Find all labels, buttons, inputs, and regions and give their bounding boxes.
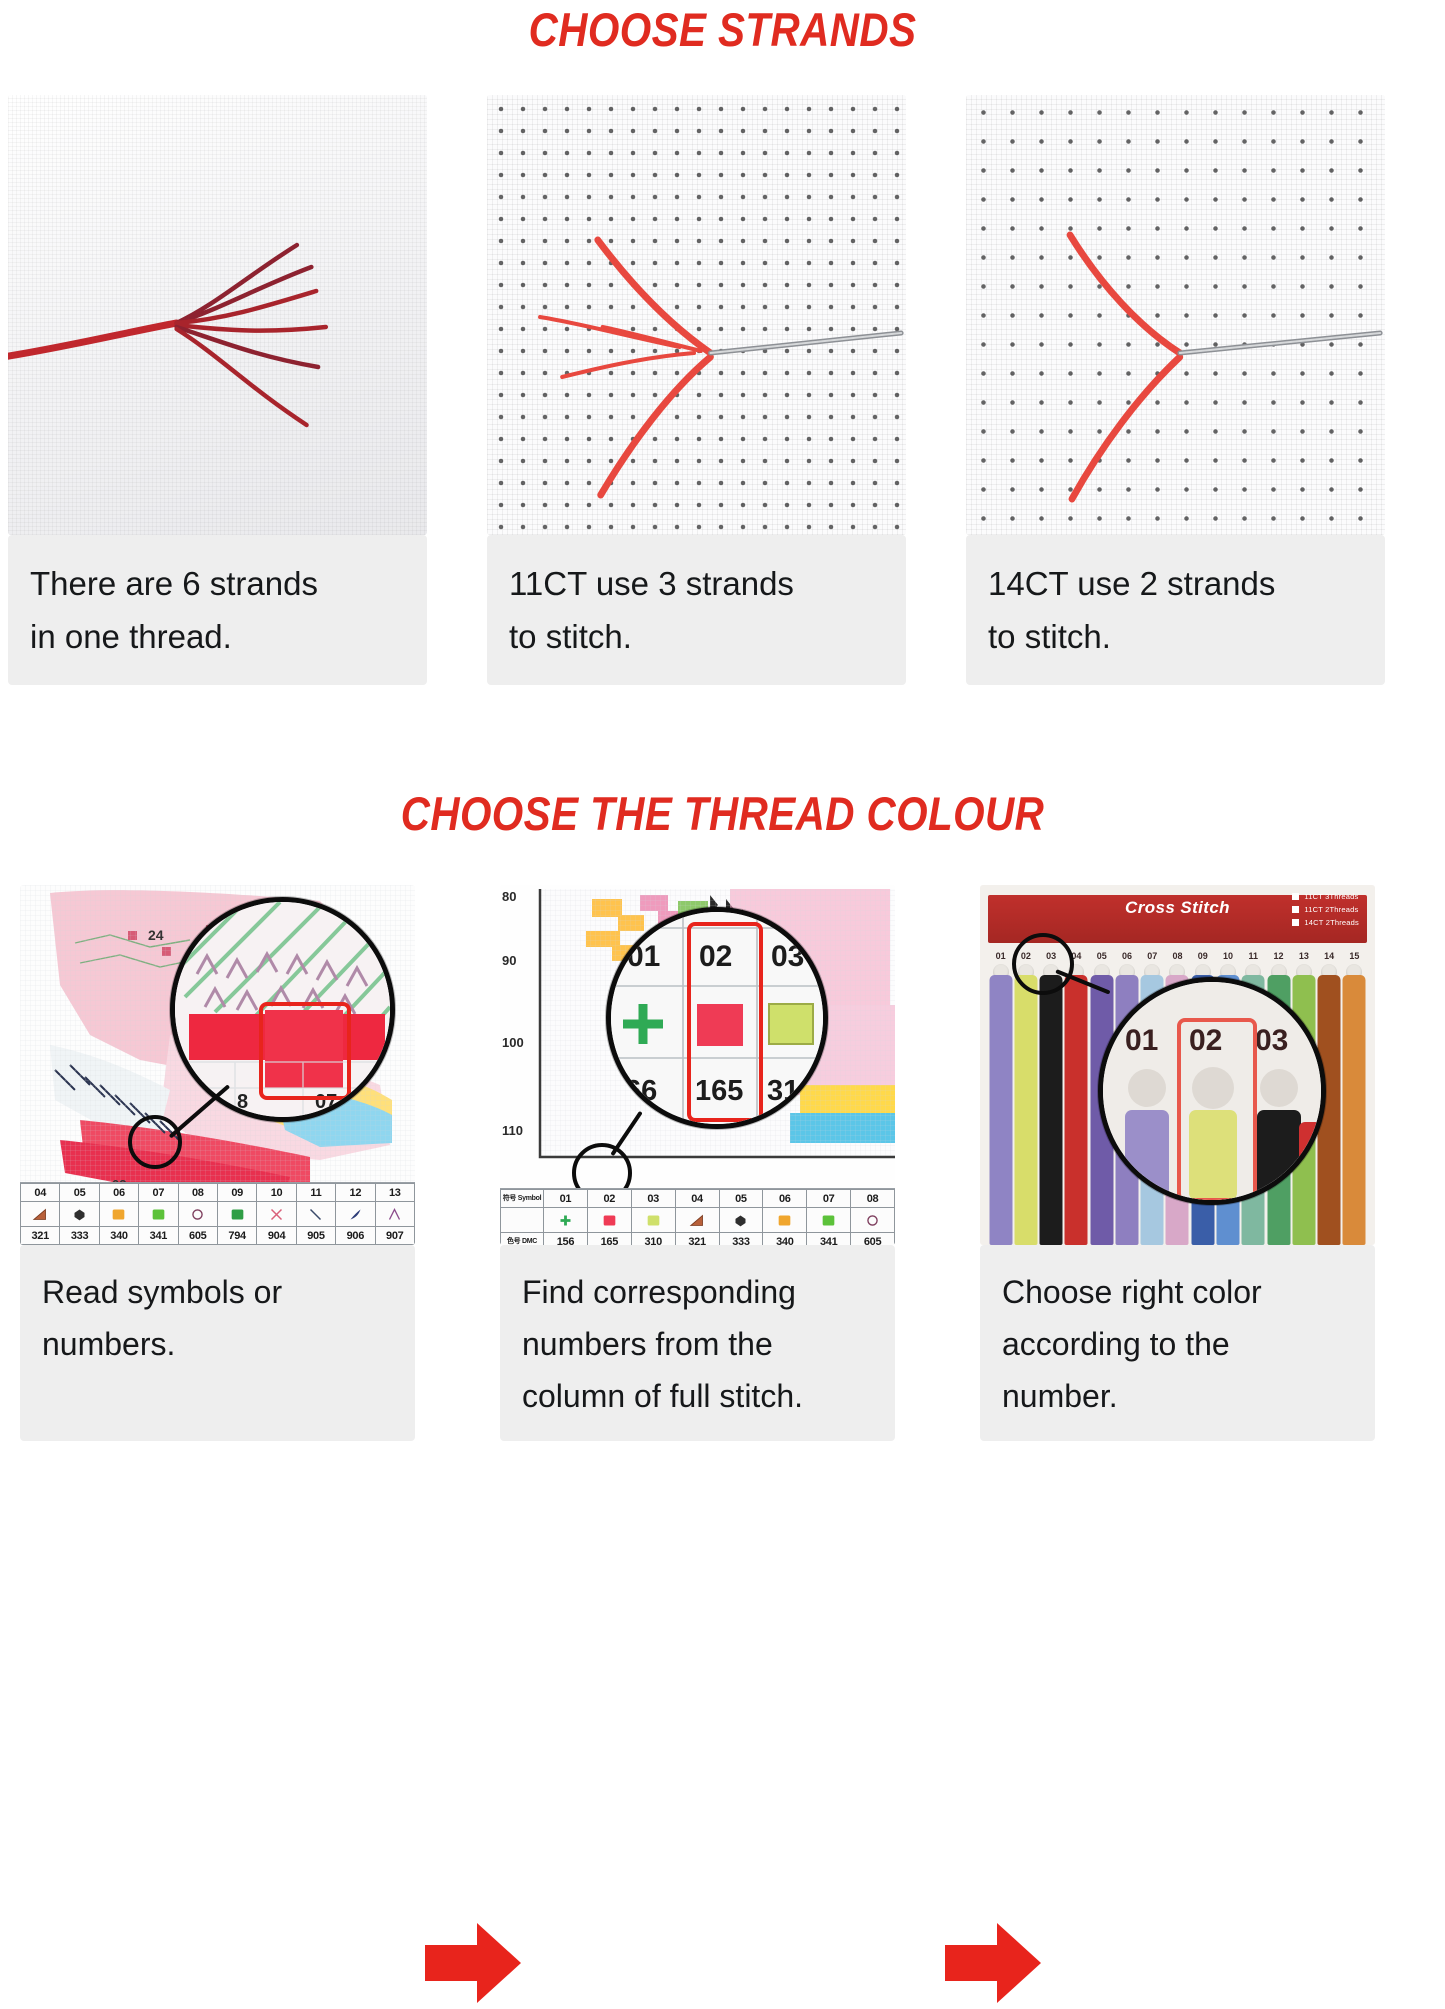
skein-floss bbox=[989, 975, 1012, 1245]
triangle-flag-icon bbox=[32, 1207, 49, 1222]
magnifier-highlight-box bbox=[1177, 1018, 1257, 1202]
skein-floss bbox=[1040, 975, 1063, 1245]
legend-symbol-cell bbox=[851, 1208, 895, 1233]
legend-header-cell: 08 bbox=[178, 1184, 217, 1202]
legend-code-row: 色号 DMC 156165310321333340341605 bbox=[501, 1233, 895, 1246]
magnifier-lens-symbols: 8 07 bbox=[170, 897, 395, 1122]
chart-area-number: 24 bbox=[148, 927, 164, 943]
legend-header-cell: 03 bbox=[631, 1190, 675, 1208]
skein-floss bbox=[1065, 975, 1088, 1245]
card-legend: 11CT 3Threads 11CT 2Threads 14CT 2Thread… bbox=[1292, 892, 1359, 931]
skein-number: 15 bbox=[1342, 951, 1367, 961]
svg-text:66: 66 bbox=[625, 1075, 657, 1107]
card-legend-item: 14CT 2Threads bbox=[1292, 918, 1359, 927]
leaf-navy-icon bbox=[347, 1207, 364, 1222]
legend-row-label-dmc: 色号 DMC bbox=[501, 1233, 544, 1246]
card-legend-label: 14CT 2Threads bbox=[1304, 918, 1359, 927]
caption-choose-colour: Choose right color according to the numb… bbox=[980, 1245, 1375, 1441]
caret-purple-icon bbox=[386, 1207, 403, 1222]
skein-number: 01 bbox=[988, 951, 1013, 961]
caption-line: Choose right color bbox=[1002, 1267, 1355, 1319]
checkbox-icon bbox=[1292, 893, 1299, 900]
row-axis-tick: 90 bbox=[502, 953, 516, 968]
legend-symbol-cell bbox=[139, 1202, 178, 1227]
two-strand-needle-illustration bbox=[966, 95, 1385, 535]
square-pink-icon bbox=[601, 1213, 618, 1228]
legend-symbol-cell bbox=[587, 1208, 631, 1233]
legend-code-cell: 341 bbox=[807, 1233, 851, 1246]
caption-line: numbers from the bbox=[522, 1319, 875, 1371]
magnifier-highlight-box bbox=[687, 922, 763, 1122]
legend-header-cell: 13 bbox=[375, 1184, 414, 1202]
legend-symbol-row bbox=[501, 1208, 895, 1233]
legend-code-row: 321333340341605794904905906907 bbox=[21, 1227, 415, 1245]
legend-code-cell: 794 bbox=[217, 1227, 256, 1245]
strand-panel-six-strands: There are 6 strands in one thread. bbox=[8, 95, 427, 755]
legend-code-cell: 340 bbox=[99, 1227, 138, 1245]
caption-line: numbers. bbox=[42, 1319, 395, 1371]
legend-symbol-cell bbox=[99, 1202, 138, 1227]
legend-code-cell: 333 bbox=[60, 1227, 99, 1245]
photo-six-strands bbox=[8, 95, 427, 535]
legend-code-cell: 341 bbox=[139, 1227, 178, 1245]
colour-panel-choose-colour: Cross Stitch 11CT 3Threads 11CT 2Threads… bbox=[980, 885, 1375, 1479]
legend-code-cell: 907 bbox=[375, 1227, 414, 1245]
arrow-right-icon-2 bbox=[945, 1917, 1041, 2009]
caption-find-numbers: Find corresponding numbers from the colu… bbox=[500, 1245, 895, 1441]
strand-panel-11ct: 11CT use 3 strands to stitch. bbox=[487, 95, 906, 755]
caption-line: Find corresponding bbox=[522, 1267, 875, 1319]
legend-symbol-cell bbox=[217, 1202, 256, 1227]
photo-14ct-aida bbox=[966, 95, 1385, 535]
legend-header-row: 04050607080910111213 bbox=[21, 1184, 415, 1202]
checkbox-icon bbox=[1292, 919, 1299, 926]
legend-code-cell: 165 bbox=[587, 1233, 631, 1246]
svg-text:01: 01 bbox=[627, 940, 660, 973]
caption-14ct: 14CT use 2 strands to stitch. bbox=[966, 535, 1385, 685]
legend-header-cell: 10 bbox=[257, 1184, 296, 1202]
strands-row: There are 6 strands in one thread. 11CT … bbox=[0, 95, 1445, 755]
colour-panel-find-numbers: 80 90 100 110 bbox=[500, 885, 895, 1479]
legend-header-cell: 09 bbox=[217, 1184, 256, 1202]
skein-item: 04 bbox=[1064, 949, 1089, 1245]
square-green-icon bbox=[150, 1207, 167, 1222]
skein-floss bbox=[1343, 975, 1366, 1245]
card-legend-label: 11CT 2Threads bbox=[1304, 905, 1358, 914]
legend-header-cell: 04 bbox=[21, 1184, 60, 1202]
legend-symbol-cell bbox=[544, 1208, 588, 1233]
caption-11ct: 11CT use 3 strands to stitch. bbox=[487, 535, 906, 685]
caption-line: 11CT use 3 strands bbox=[509, 557, 886, 610]
magnifier-lens-numbers: 01 02 03 66 165 310 bbox=[606, 907, 828, 1129]
magnifier-lens-threads: 01 02 03 bbox=[1098, 977, 1326, 1205]
caption-six-strands: There are 6 strands in one thread. bbox=[8, 535, 427, 685]
skein-number: 05 bbox=[1089, 951, 1114, 961]
magnifier-focus-circle bbox=[1012, 933, 1074, 995]
dot-hex-icon bbox=[732, 1213, 749, 1228]
magnifier-focus-circle bbox=[128, 1115, 182, 1169]
square-green-icon bbox=[820, 1213, 837, 1228]
skein-number: 13 bbox=[1291, 951, 1316, 961]
legend-symbol-cell bbox=[60, 1202, 99, 1227]
legend-symbol-cell bbox=[631, 1208, 675, 1233]
skein-number: 07 bbox=[1140, 951, 1165, 961]
skein-number: 09 bbox=[1190, 951, 1215, 961]
caption-line: to stitch. bbox=[988, 610, 1365, 663]
colour-row: 24 02 bbox=[0, 885, 1445, 1479]
legend-table-numbers: 符号 Symbol 0102030405060708 色号 DMC 156165… bbox=[500, 1189, 895, 1245]
legend-symbol-cell bbox=[675, 1208, 719, 1233]
legend-symbol-cell bbox=[21, 1202, 60, 1227]
triangle-flag-icon bbox=[689, 1213, 706, 1228]
legend-symbol-cell bbox=[375, 1202, 414, 1227]
skein-number: 14 bbox=[1316, 951, 1341, 961]
legend-header-cell: 01 bbox=[544, 1190, 588, 1208]
skein-number: 11 bbox=[1241, 951, 1266, 961]
legend-row-label-symbol: 符号 Symbol bbox=[501, 1190, 544, 1208]
row-axis-tick: 80 bbox=[502, 889, 516, 904]
legend-symbol-cell bbox=[763, 1208, 807, 1233]
caption-line: Read symbols or bbox=[42, 1267, 395, 1319]
legend-code-cell: 321 bbox=[21, 1227, 60, 1245]
legend-header-row: 符号 Symbol 0102030405060708 bbox=[501, 1190, 895, 1208]
legend-symbol-cell bbox=[178, 1202, 217, 1227]
legend-header-cell: 04 bbox=[675, 1190, 719, 1208]
svg-text:03: 03 bbox=[1255, 1024, 1288, 1057]
caption-read-symbols: Read symbols or numbers. bbox=[20, 1245, 415, 1441]
square-orange-icon bbox=[110, 1207, 127, 1222]
legend-code-cell: 904 bbox=[257, 1227, 296, 1245]
three-strand-needle-illustration bbox=[487, 95, 906, 535]
legend-header-cell: 08 bbox=[851, 1190, 895, 1208]
skein-number: 08 bbox=[1165, 951, 1190, 961]
card-legend-item: 11CT 2Threads bbox=[1292, 905, 1359, 914]
legend-symbol-cell bbox=[807, 1208, 851, 1233]
row-axis-tick: 100 bbox=[502, 1035, 524, 1050]
legend-header-cell: 05 bbox=[719, 1190, 763, 1208]
legend-symbol-row bbox=[21, 1202, 415, 1227]
svg-text:03: 03 bbox=[771, 940, 804, 973]
caption-line: number. bbox=[1002, 1371, 1355, 1423]
square-darkgreen-icon bbox=[229, 1207, 246, 1222]
legend-code-cell: 156 bbox=[544, 1233, 588, 1246]
circle-outline-icon bbox=[864, 1213, 881, 1228]
row-axis-tick: 110 bbox=[502, 1123, 523, 1138]
legend-header-cell: 07 bbox=[807, 1190, 851, 1208]
legend-code-cell: 906 bbox=[336, 1227, 375, 1245]
skein-number: 10 bbox=[1215, 951, 1240, 961]
skein-item: 01 bbox=[988, 949, 1013, 1245]
dot-hex-icon bbox=[71, 1207, 88, 1222]
magnifier-highlight-box bbox=[259, 1002, 351, 1100]
caption-line: 14CT use 2 strands bbox=[988, 557, 1365, 610]
legend-table-symbols: 04050607080910111213 3213333403416057949… bbox=[20, 1183, 415, 1245]
legend-symbol-cell bbox=[719, 1208, 763, 1233]
card-legend-item: 11CT 3Threads bbox=[1292, 892, 1359, 901]
legend-symbol-cell bbox=[257, 1202, 296, 1227]
legend-code-cell: 340 bbox=[763, 1233, 807, 1246]
legend-code-cell: 605 bbox=[851, 1233, 895, 1246]
arrow-right-icon-1 bbox=[425, 1917, 521, 2009]
legend-code-cell: 310 bbox=[631, 1233, 675, 1246]
colour-panel-read-symbols: 24 02 bbox=[20, 885, 415, 1479]
legend-code-cell: 321 bbox=[675, 1233, 719, 1246]
photo-11ct-aida bbox=[487, 95, 906, 535]
square-lime-icon bbox=[645, 1213, 662, 1228]
strand-panel-14ct: 14CT use 2 strands to stitch. bbox=[966, 95, 1385, 755]
legend-header-cell: 12 bbox=[336, 1184, 375, 1202]
legend-header-cell: 07 bbox=[139, 1184, 178, 1202]
page-title-choose-strands: CHOOSE STRANDS bbox=[101, 2, 1344, 57]
caption-line: There are 6 strands bbox=[30, 557, 407, 610]
legend-code-cell: 605 bbox=[178, 1227, 217, 1245]
legend-header-cell: 06 bbox=[99, 1184, 138, 1202]
skein-number: 06 bbox=[1114, 951, 1139, 961]
plus-green-icon bbox=[557, 1213, 574, 1228]
legend-header-cell: 02 bbox=[587, 1190, 631, 1208]
legend-symbol-cell bbox=[296, 1202, 335, 1227]
legend-header-cell: 11 bbox=[296, 1184, 335, 1202]
legend-header-cell: 05 bbox=[60, 1184, 99, 1202]
skein-floss bbox=[1014, 975, 1037, 1245]
skein-item: 15 bbox=[1342, 949, 1367, 1245]
six-strand-floss-illustration bbox=[8, 95, 427, 535]
legend-symbol-cell bbox=[336, 1202, 375, 1227]
x-cross-icon bbox=[268, 1207, 285, 1222]
svg-text:01: 01 bbox=[1125, 1024, 1158, 1057]
skein-number: 12 bbox=[1266, 951, 1291, 961]
svg-text:8: 8 bbox=[237, 1091, 248, 1113]
circle-outline-icon bbox=[189, 1207, 206, 1222]
legend-header-cell: 06 bbox=[763, 1190, 807, 1208]
caption-line: in one thread. bbox=[30, 610, 407, 663]
slash-line-icon bbox=[307, 1207, 324, 1222]
photo-pattern-chart-numbers: 80 90 100 110 bbox=[500, 885, 895, 1245]
caption-line: column of full stitch. bbox=[522, 1371, 875, 1423]
legend-strip-numbers: 符号 Symbol 0102030405060708 色号 DMC 156165… bbox=[500, 1188, 895, 1245]
caption-line: to stitch. bbox=[509, 610, 886, 663]
thread-organizer-card: Cross Stitch 11CT 3Threads 11CT 2Threads… bbox=[980, 885, 1375, 1245]
photo-thread-card: Cross Stitch 11CT 3Threads 11CT 2Threads… bbox=[980, 885, 1375, 1245]
page-title-choose-thread-colour: CHOOSE THE THREAD COLOUR bbox=[101, 786, 1344, 841]
square-orange-icon bbox=[776, 1213, 793, 1228]
card-legend-label: 11CT 3Threads bbox=[1304, 892, 1358, 901]
svg-text:310: 310 bbox=[767, 1075, 815, 1107]
legend-code-cell: 333 bbox=[719, 1233, 763, 1246]
photo-pattern-chart-symbols: 24 02 bbox=[20, 885, 415, 1245]
legend-strip-symbols: 04050607080910111213 3213333403416057949… bbox=[20, 1182, 415, 1245]
checkbox-icon bbox=[1292, 906, 1299, 913]
caption-line: according to the bbox=[1002, 1319, 1355, 1371]
legend-code-cell: 905 bbox=[296, 1227, 335, 1245]
